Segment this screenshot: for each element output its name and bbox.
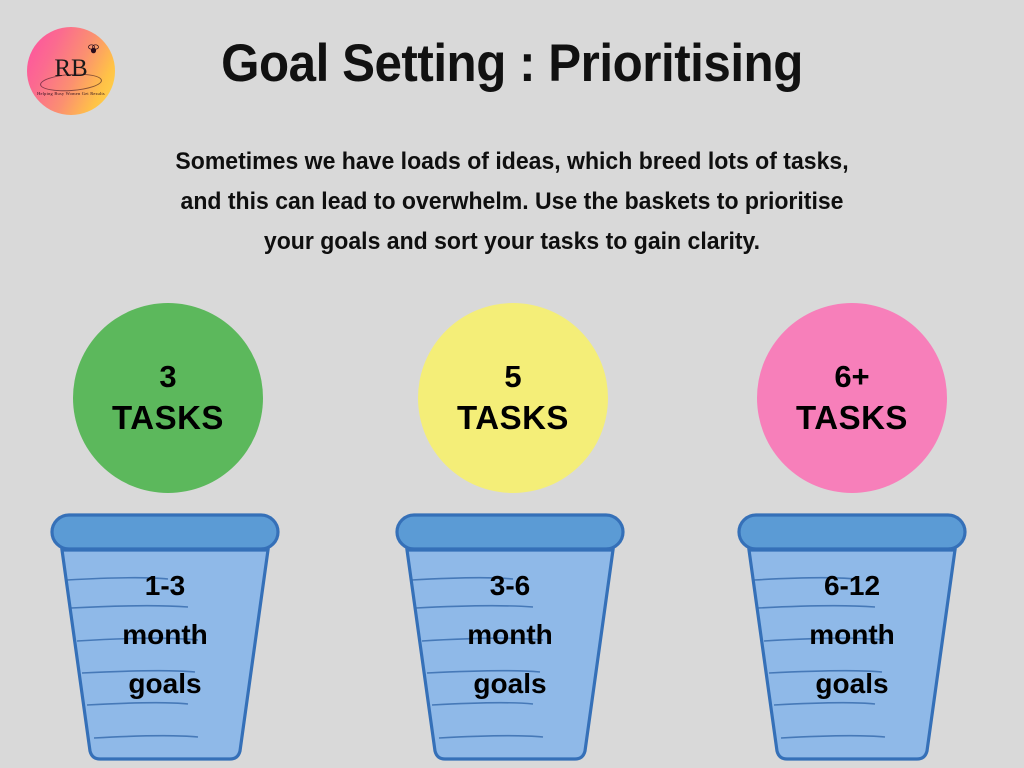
- basket-period: month: [735, 610, 969, 659]
- page-title: Goal Setting : Prioritising: [36, 33, 988, 94]
- basket-range: 1-3: [48, 561, 282, 610]
- basket-noun: goals: [48, 659, 282, 708]
- basket-caption: 6-12 month goals: [735, 561, 969, 708]
- basket-range: 6-12: [735, 561, 969, 610]
- task-count-circle-3: 6+ TASKS: [757, 303, 947, 493]
- infographic-canvas: RB Helping Busy Women Get Results Goal S…: [0, 0, 1024, 768]
- subtitle-line-1: Sometimes we have loads of ideas, which …: [112, 142, 913, 182]
- page-subtitle: Sometimes we have loads of ideas, which …: [112, 142, 913, 262]
- basket-period: month: [48, 610, 282, 659]
- task-count-value: 5: [504, 357, 521, 397]
- basket-range: 3-6: [393, 561, 627, 610]
- task-count-value: 3: [159, 357, 176, 397]
- task-count-label: TASKS: [457, 397, 569, 439]
- goal-basket-2[interactable]: 3-6 month goals: [393, 513, 627, 768]
- basket-caption: 1-3 month goals: [48, 561, 282, 708]
- basket-caption: 3-6 month goals: [393, 561, 627, 708]
- goal-basket-3[interactable]: 6-12 month goals: [735, 513, 969, 768]
- basket-period: month: [393, 610, 627, 659]
- task-count-value: 6+: [834, 357, 869, 397]
- basket-noun: goals: [735, 659, 969, 708]
- subtitle-line-2: and this can lead to overwhelm. Use the …: [112, 182, 913, 222]
- goal-basket-1[interactable]: 1-3 month goals: [48, 513, 282, 768]
- task-count-label: TASKS: [796, 397, 908, 439]
- task-count-label: TASKS: [112, 397, 224, 439]
- basket-noun: goals: [393, 659, 627, 708]
- task-count-circle-2: 5 TASKS: [418, 303, 608, 493]
- subtitle-line-3: your goals and sort your tasks to gain c…: [112, 222, 913, 262]
- task-count-circle-1: 3 TASKS: [73, 303, 263, 493]
